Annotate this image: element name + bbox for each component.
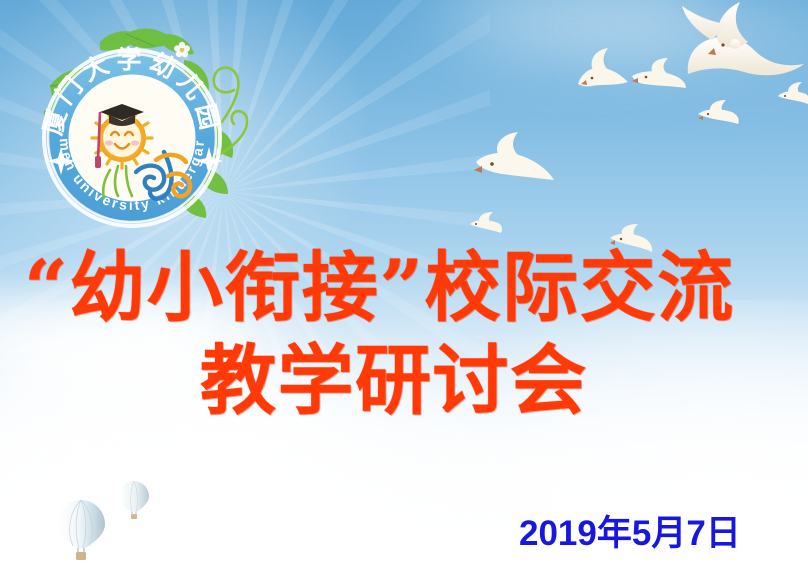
poster-canvas: 厦门大学幼儿园 Xiamen university kindergarten bbox=[0, 0, 808, 574]
poster-title-line-2: 教学研讨会 bbox=[200, 340, 588, 422]
event-date: 2019年5月7日 bbox=[519, 505, 741, 556]
hot-air-balloon-icon bbox=[55, 498, 107, 560]
dove-icon bbox=[472, 132, 556, 190]
hot-air-balloon-icon bbox=[118, 480, 150, 520]
dove-icon bbox=[574, 48, 630, 90]
dove-icon bbox=[678, 0, 808, 76]
cloud bbox=[480, 12, 670, 46]
dove-icon bbox=[468, 212, 504, 236]
dove-icon bbox=[776, 82, 808, 108]
dove-icon bbox=[696, 100, 740, 128]
poster-title-line-1: “幼小衔接”校际交流 bbox=[24, 247, 735, 329]
dove-icon bbox=[630, 56, 688, 94]
kindergarten-logo: 厦门大学幼儿园 Xiamen university kindergarten bbox=[14, 20, 250, 236]
